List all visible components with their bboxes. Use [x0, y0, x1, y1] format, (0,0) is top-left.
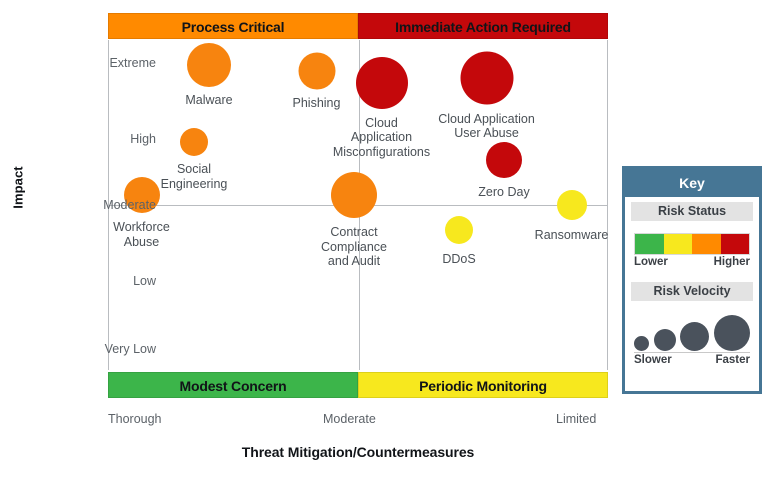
risk-status-swatch-2 — [692, 234, 721, 254]
y-tick-very-low: Very Low — [60, 342, 156, 356]
bubble-ransomware[interactable] — [557, 190, 587, 220]
bubble-label-workforce-abuse: Workforce Abuse — [67, 220, 217, 249]
bubble-label-cloud-application-user-abuse: Cloud Application User Abuse — [412, 112, 562, 141]
risk-velocity-dot-1 — [654, 329, 676, 351]
risk-status-high-label: Higher — [714, 256, 750, 268]
risk-status-swatch-0 — [635, 234, 664, 254]
quadrant-banner-top-right: Immediate Action Required — [358, 13, 608, 39]
bubble-zero-day[interactable] — [486, 142, 522, 178]
bubble-malware[interactable] — [187, 43, 231, 87]
bubble-ddos[interactable] — [445, 216, 473, 244]
risk-velocity-dot-3 — [714, 315, 750, 351]
risk-velocity-dot-2 — [680, 322, 709, 351]
bubble-cloud-application-misconfigurations[interactable] — [356, 57, 408, 109]
y-tick-extreme: Extreme — [60, 56, 156, 70]
y-tick-high: High — [60, 132, 156, 146]
risk-status-swatch-3 — [721, 234, 750, 254]
risk-status-swatches — [634, 233, 750, 255]
risk-velocity-dot-0 — [634, 336, 649, 351]
bubble-phishing[interactable] — [298, 53, 335, 90]
legend-risk-velocity-heading: Risk Velocity — [631, 282, 753, 301]
quadrant-banner-top-left: Process Critical — [108, 13, 358, 39]
risk-velocity-high-label: Faster — [715, 354, 750, 366]
bubble-label-ddos: DDoS — [384, 252, 534, 267]
bubble-label-zero-day: Zero Day — [429, 185, 579, 200]
bubble-cloud-application-user-abuse[interactable] — [460, 51, 513, 104]
risk-status-scale: Lower Higher — [634, 256, 750, 268]
bubble-label-cloud-application-misconfigurations: Cloud Application Misconfigurations — [307, 116, 457, 160]
risk-status-low-label: Lower — [634, 256, 668, 268]
legend-title: Key — [625, 169, 759, 197]
y-tick-low: Low — [60, 274, 156, 288]
legend-key: Key Risk Status Lower Higher Risk Veloci… — [622, 166, 762, 394]
quadrant-banner-bottom-right: Periodic Monitoring — [358, 372, 608, 398]
risk-velocity-dots — [634, 313, 750, 353]
risk-velocity-low-label: Slower — [634, 354, 672, 366]
plot-area: MalwarePhishingSocial EngineeringCloud A… — [108, 40, 608, 370]
bubble-label-contract-compliance-and-audit: Contract Compliance and Audit — [279, 225, 429, 269]
x-axis-title: Threat Mitigation/Countermeasures — [108, 444, 608, 460]
risk-velocity-scale: Slower Faster — [634, 354, 750, 366]
bubble-contract-compliance-and-audit[interactable] — [331, 172, 377, 218]
y-tick-moderate: Moderate — [60, 198, 156, 212]
bubble-label-malware: Malware — [134, 93, 284, 108]
bubble-social-engineering[interactable] — [180, 128, 208, 156]
x-tick-moderate: Moderate — [323, 412, 376, 426]
y-axis-title: Impact — [11, 148, 26, 228]
x-tick-thorough: Thorough — [108, 412, 162, 426]
risk-matrix-chart: Impact Threat Mitigation/Countermeasures… — [0, 0, 768, 477]
x-tick-limited: Limited — [556, 412, 596, 426]
quadrant-banner-bottom-left: Modest Concern — [108, 372, 358, 398]
legend-risk-status-heading: Risk Status — [631, 202, 753, 221]
risk-status-swatch-1 — [664, 234, 693, 254]
